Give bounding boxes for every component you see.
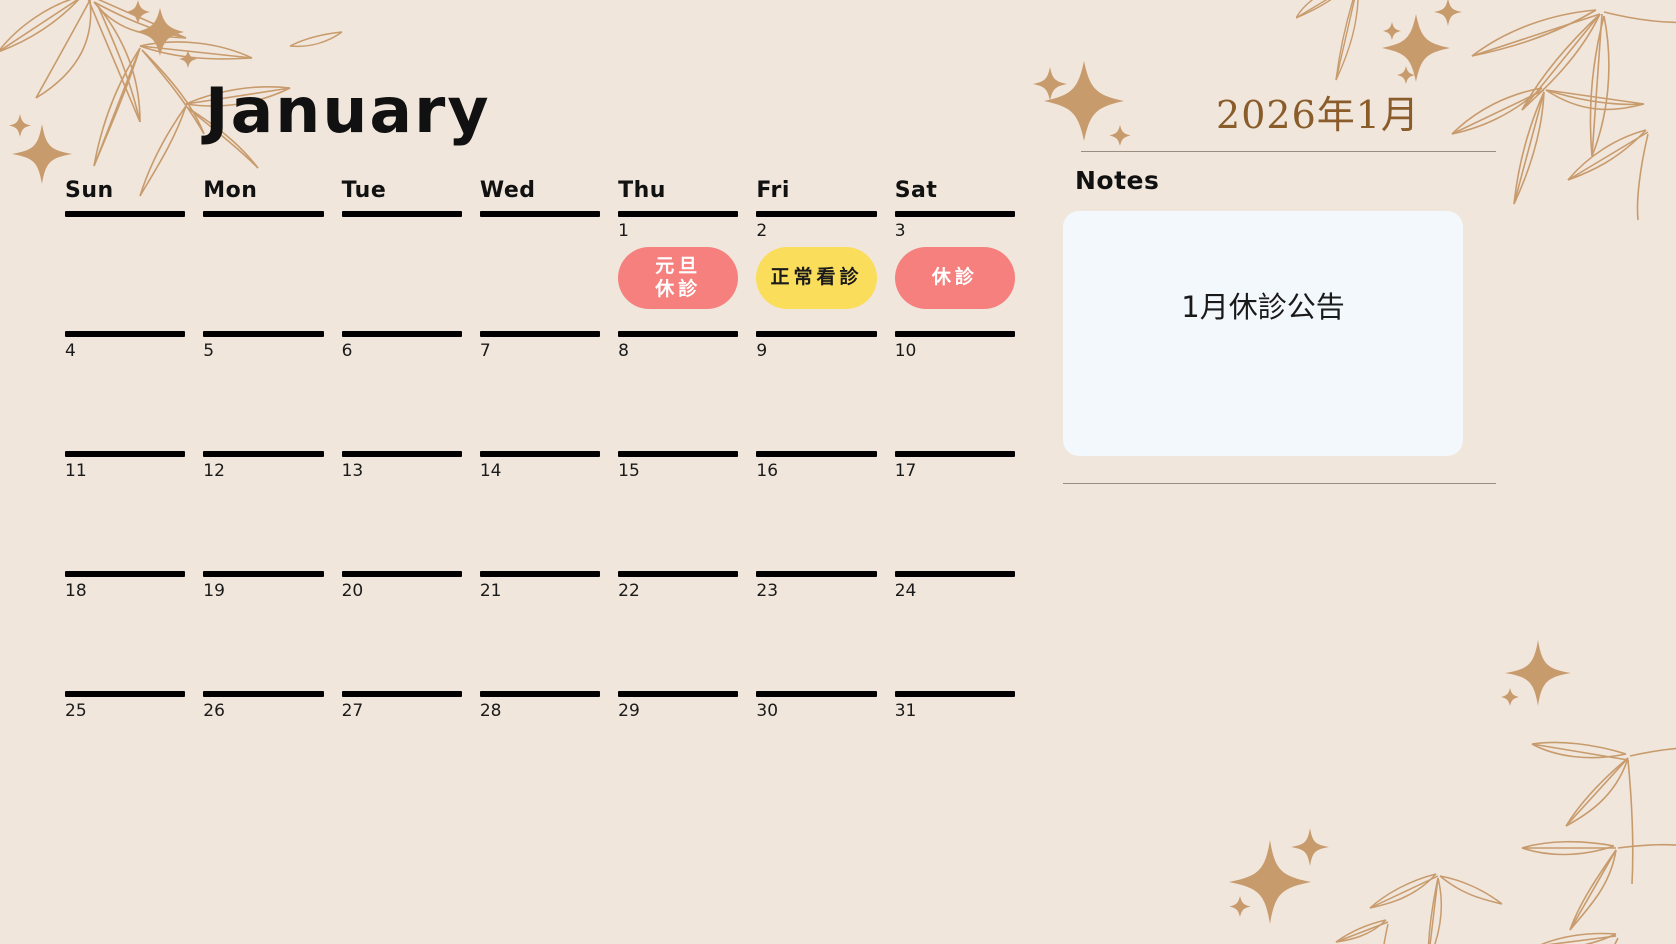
day-rule <box>618 451 738 457</box>
day-event-badge[interactable]: 休診 <box>895 247 1015 309</box>
day-number: 29 <box>618 703 738 721</box>
day-cell-23[interactable]: 23 <box>756 571 876 691</box>
day-number: 7 <box>480 343 600 361</box>
day-rule <box>756 451 876 457</box>
day-grid: 1元旦 休診2正常看診3休診45678910111213141516171819… <box>65 211 1015 811</box>
day-rule <box>203 691 323 697</box>
day-rule <box>895 691 1015 697</box>
notes-card[interactable]: 1月休診公告 <box>1063 211 1463 456</box>
day-cell-empty <box>65 211 185 331</box>
day-number: 14 <box>480 463 600 481</box>
day-rule <box>65 331 185 337</box>
day-cell-19[interactable]: 19 <box>203 571 323 691</box>
day-rule <box>618 331 738 337</box>
day-cell-28[interactable]: 28 <box>480 691 600 811</box>
day-rule <box>65 571 185 577</box>
day-cell-22[interactable]: 22 <box>618 571 738 691</box>
day-cell-24[interactable]: 24 <box>895 571 1015 691</box>
day-number: 3 <box>895 223 1015 241</box>
day-rule <box>618 211 738 217</box>
day-cell-1[interactable]: 1元旦 休診 <box>618 211 738 331</box>
day-number: 16 <box>756 463 876 481</box>
sparkle-decoration-bottom-center <box>1210 820 1350 930</box>
day-number: 11 <box>65 463 185 481</box>
day-cell-11[interactable]: 11 <box>65 451 185 571</box>
day-rule <box>895 211 1015 217</box>
day-number: 8 <box>618 343 738 361</box>
day-rule <box>342 571 462 577</box>
weekday-header-mon: Mon <box>203 178 323 211</box>
weekday-header-wed: Wed <box>480 178 600 211</box>
day-number: 17 <box>895 463 1015 481</box>
day-number: 23 <box>756 583 876 601</box>
day-cell-10[interactable]: 10 <box>895 331 1015 451</box>
weekday-header-fri: Fri <box>756 178 876 211</box>
day-rule <box>618 571 738 577</box>
day-rule <box>480 691 600 697</box>
day-rule <box>895 571 1015 577</box>
notes-label: Notes <box>1075 166 1503 195</box>
day-number: 28 <box>480 703 600 721</box>
day-cell-empty <box>480 211 600 331</box>
day-cell-27[interactable]: 27 <box>342 691 462 811</box>
day-cell-4[interactable]: 4 <box>65 331 185 451</box>
day-rule <box>756 211 876 217</box>
day-event-badge[interactable]: 正常看診 <box>756 247 876 309</box>
day-cell-8[interactable]: 8 <box>618 331 738 451</box>
day-rule <box>203 451 323 457</box>
day-rule <box>756 571 876 577</box>
month-title: January <box>205 80 1031 142</box>
day-number: 6 <box>342 343 462 361</box>
day-cell-17[interactable]: 17 <box>895 451 1015 571</box>
day-rule <box>756 331 876 337</box>
day-cell-18[interactable]: 18 <box>65 571 185 691</box>
weekday-header-tue: Tue <box>342 178 462 211</box>
day-rule <box>480 451 600 457</box>
day-cell-20[interactable]: 20 <box>342 571 462 691</box>
day-rule <box>203 571 323 577</box>
day-rule <box>342 691 462 697</box>
day-cell-7[interactable]: 7 <box>480 331 600 451</box>
calendar-region: January SunMonTueWedThuFriSat 1元旦 休診2正常看… <box>65 80 1015 811</box>
panel-divider-top <box>1081 151 1496 152</box>
day-cell-empty <box>203 211 323 331</box>
day-number: 25 <box>65 703 185 721</box>
day-cell-9[interactable]: 9 <box>756 331 876 451</box>
day-rule <box>618 691 738 697</box>
day-number: 10 <box>895 343 1015 361</box>
day-cell-empty <box>342 211 462 331</box>
day-number: 30 <box>756 703 876 721</box>
weekday-header-sat: Sat <box>895 178 1015 211</box>
day-number: 13 <box>342 463 462 481</box>
day-rule <box>480 571 600 577</box>
day-cell-15[interactable]: 15 <box>618 451 738 571</box>
day-cell-30[interactable]: 30 <box>756 691 876 811</box>
day-cell-14[interactable]: 14 <box>480 451 600 571</box>
day-cell-29[interactable]: 29 <box>618 691 738 811</box>
day-number: 26 <box>203 703 323 721</box>
day-number: 27 <box>342 703 462 721</box>
day-rule <box>65 691 185 697</box>
day-cell-2[interactable]: 2正常看診 <box>756 211 876 331</box>
day-rule <box>480 211 600 217</box>
day-cell-6[interactable]: 6 <box>342 331 462 451</box>
notes-panel: 2026年1月 Notes 1月休診公告 <box>1063 95 1503 484</box>
day-number: 21 <box>480 583 600 601</box>
day-number: 2 <box>756 223 876 241</box>
day-number: 20 <box>342 583 462 601</box>
day-cell-31[interactable]: 31 <box>895 691 1015 811</box>
day-cell-13[interactable]: 13 <box>342 451 462 571</box>
day-cell-12[interactable]: 12 <box>203 451 323 571</box>
day-number: 24 <box>895 583 1015 601</box>
weekday-header-thu: Thu <box>618 178 738 211</box>
day-cell-3[interactable]: 3休診 <box>895 211 1015 331</box>
panel-month-title: 2026年1月 <box>1063 95 1503 137</box>
weekday-header-sun: Sun <box>65 178 185 211</box>
day-rule <box>342 451 462 457</box>
sparkle-decoration-right <box>1490 630 1590 720</box>
day-rule <box>342 211 462 217</box>
day-rule <box>895 451 1015 457</box>
day-number: 18 <box>65 583 185 601</box>
day-event-badge[interactable]: 元旦 休診 <box>618 247 738 309</box>
day-number: 1 <box>618 223 738 241</box>
day-number: 22 <box>618 583 738 601</box>
day-rule <box>756 691 876 697</box>
day-number: 9 <box>756 343 876 361</box>
day-cell-25[interactable]: 25 <box>65 691 185 811</box>
day-cell-21[interactable]: 21 <box>480 571 600 691</box>
panel-divider-bottom <box>1063 483 1496 484</box>
day-number: 5 <box>203 343 323 361</box>
day-number: 15 <box>618 463 738 481</box>
day-number: 4 <box>65 343 185 361</box>
day-cell-5[interactable]: 5 <box>203 331 323 451</box>
calendar-page: January SunMonTueWedThuFriSat 1元旦 休診2正常看… <box>0 0 1676 944</box>
day-rule <box>65 211 185 217</box>
day-rule <box>480 331 600 337</box>
day-rule <box>895 331 1015 337</box>
day-rule <box>342 331 462 337</box>
day-number: 31 <box>895 703 1015 721</box>
day-rule <box>203 331 323 337</box>
day-cell-26[interactable]: 26 <box>203 691 323 811</box>
leaf-decoration-bottom-right <box>1326 734 1676 944</box>
day-cell-16[interactable]: 16 <box>756 451 876 571</box>
day-number: 19 <box>203 583 323 601</box>
day-rule <box>203 211 323 217</box>
notes-text: 1月休診公告 <box>1181 287 1344 328</box>
weekday-header-row: SunMonTueWedThuFriSat <box>65 178 1015 211</box>
day-number: 12 <box>203 463 323 481</box>
day-rule <box>65 451 185 457</box>
